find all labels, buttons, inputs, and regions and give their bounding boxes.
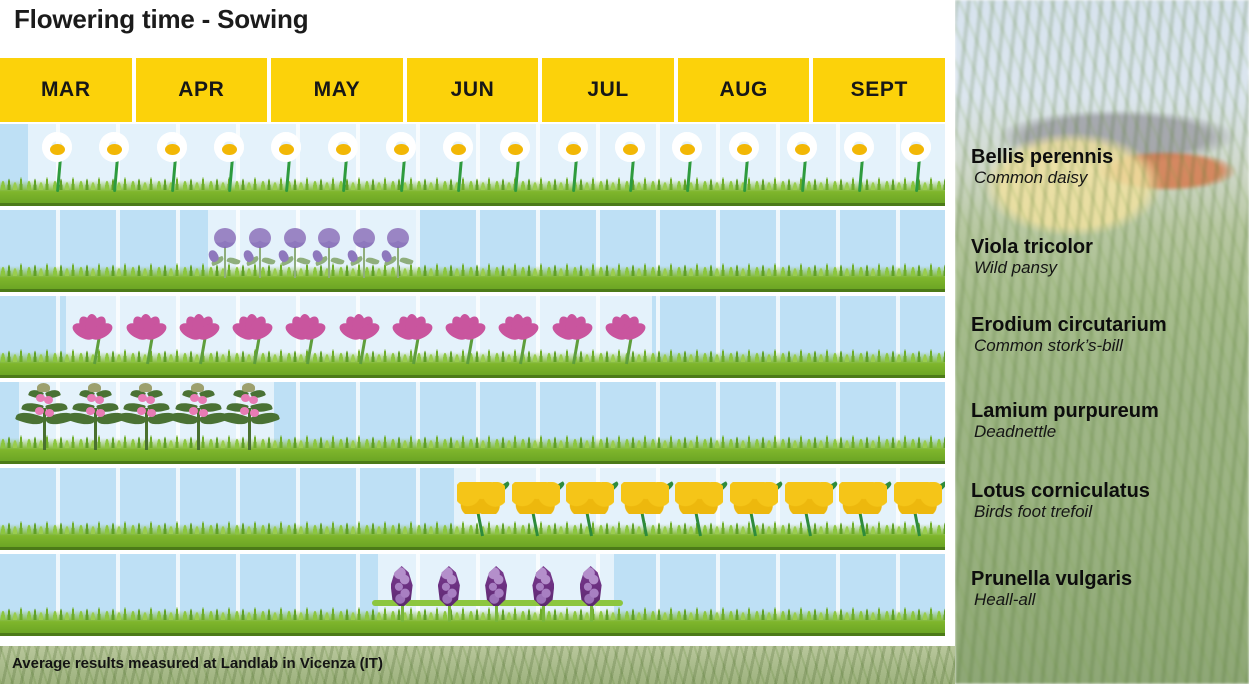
- flowering-row: [0, 124, 945, 206]
- legend-scientific-name: Erodium circutarium: [971, 314, 1249, 336]
- legend-item: Bellis perennisCommon daisy: [971, 146, 1249, 189]
- month-header-row: MARAPRMAYJUNJULAUGSEPT: [0, 58, 945, 122]
- month-label: JUL: [587, 78, 628, 102]
- footer-note: Average results measured at Landlab in V…: [12, 655, 383, 672]
- legend-common-name: Wild pansy: [971, 258, 1249, 278]
- month-label: MAY: [314, 78, 361, 102]
- flowering-rows-area: [0, 124, 945, 644]
- month-label: SEPT: [851, 78, 908, 102]
- flower-icons: [0, 468, 945, 550]
- legend-panel: Bellis perennisCommon daisyViola tricolo…: [955, 0, 1249, 684]
- footer-strip: Average results measured at Landlab in V…: [0, 646, 955, 684]
- flowering-row: [0, 296, 945, 378]
- legend-scientific-name: Bellis perennis: [971, 146, 1249, 168]
- month-label: JUN: [451, 78, 495, 102]
- legend-scientific-name: Prunella vulgaris: [971, 568, 1249, 590]
- flower-icons: [0, 296, 945, 378]
- flowering-row: [0, 554, 945, 636]
- legend-item: Prunella vulgarisHeall-all: [971, 568, 1249, 611]
- month-label: AUG: [719, 78, 767, 102]
- legend-common-name: Birds foot trefoil: [971, 502, 1249, 522]
- legend-item: Lamium purpureumDeadnettle: [971, 400, 1249, 443]
- legend-common-name: Common stork’s-bill: [971, 336, 1249, 356]
- legend-scientific-name: Viola tricolor: [971, 236, 1249, 258]
- legend-item: Lotus corniculatusBirds foot trefoil: [971, 480, 1249, 523]
- month-header-cell: JUL: [542, 58, 674, 122]
- month-header-cell: MAY: [271, 58, 403, 122]
- month-label: MAR: [41, 78, 91, 102]
- chart-panel: Flowering time - Sowing MARAPRMAYJUNJULA…: [0, 0, 955, 684]
- month-label: APR: [178, 78, 224, 102]
- flower-icons: [0, 554, 945, 636]
- legend-item: Viola tricolorWild pansy: [971, 236, 1249, 279]
- legend-scientific-name: Lamium purpureum: [971, 400, 1249, 422]
- legend-scientific-name: Lotus corniculatus: [971, 480, 1249, 502]
- flower-icons: [0, 382, 945, 464]
- flowering-row: [0, 468, 945, 550]
- flower-icons: [0, 210, 945, 292]
- flowering-row: [0, 382, 945, 464]
- month-header-cell: JUN: [407, 58, 539, 122]
- flower-icons: [0, 124, 945, 206]
- flowering-row: [0, 210, 945, 292]
- legend-common-name: Common daisy: [971, 168, 1249, 188]
- flowering-time-chart-page: Flowering time - Sowing MARAPRMAYJUNJULA…: [0, 0, 1249, 684]
- month-header-cell: AUG: [678, 58, 810, 122]
- legend-common-name: Heall-all: [971, 590, 1249, 610]
- legend-common-name: Deadnettle: [971, 422, 1249, 442]
- month-header-cell: APR: [136, 58, 268, 122]
- legend-item: Erodium circutariumCommon stork’s-bill: [971, 314, 1249, 357]
- month-header-cell: SEPT: [813, 58, 945, 122]
- page-title: Flowering time - Sowing: [14, 4, 308, 35]
- month-header-cell: MAR: [0, 58, 132, 122]
